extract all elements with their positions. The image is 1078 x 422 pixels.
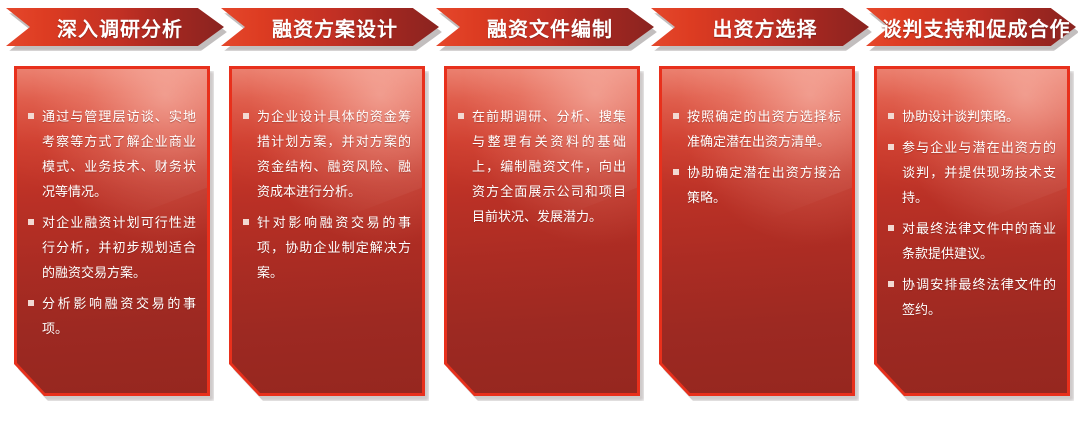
card-bullet-list-5: 协助设计谈判策略。 参与企业与潜在出资方的谈判，并提供现场技术支持。 对最终法律…	[874, 66, 1070, 396]
list-item: 协助设计谈判策略。	[888, 104, 1056, 129]
card-bullet-list-4: 按照确定的出资方选择标准确定潜在出资方清单。 协助确定潜在出资方接洽策略。	[659, 66, 855, 396]
list-item: 分析影响融资交易的事项。	[28, 291, 196, 341]
square-bullet-icon	[673, 113, 679, 119]
list-item: 按照确定的出资方选择标准确定潜在出资方清单。	[673, 104, 841, 154]
card-bullet-list-1: 通过与管理层访谈、实地考察等方式了解企业商业模式、业务技术、财务状况等情况。 对…	[14, 66, 210, 396]
bullet-text: 分析影响融资交易的事项。	[42, 291, 196, 341]
list-item: 对最终法律文件中的商业条款提供建议。	[888, 216, 1056, 266]
square-bullet-icon	[28, 219, 34, 225]
bullet-text: 协助设计谈判策略。	[902, 104, 1056, 129]
list-item: 通过与管理层访谈、实地考察等方式了解企业商业模式、业务技术、财务状况等情况。	[28, 104, 196, 204]
bullet-text: 参与企业与潜在出资方的谈判，并提供现场技术支持。	[902, 135, 1056, 210]
list-item: 在前期调研、分析、搜集与整理有关资料的基础上，编制融资文件，向出资方全面展示公司…	[458, 104, 626, 229]
bullet-text: 协调安排最终法律文件的签约。	[902, 272, 1056, 322]
bullet-text: 在前期调研、分析、搜集与整理有关资料的基础上，编制融资文件，向出资方全面展示公司…	[472, 104, 626, 229]
bullet-text: 按照确定的出资方选择标准确定潜在出资方清单。	[687, 104, 841, 154]
square-bullet-icon	[673, 169, 679, 175]
list-item: 协调安排最终法律文件的签约。	[888, 272, 1056, 322]
list-item: 对企业融资计划可行性进行分析，并初步规划适合的融资交易方案。	[28, 210, 196, 285]
square-bullet-icon	[28, 300, 34, 306]
bullet-text: 对企业融资计划可行性进行分析，并初步规划适合的融资交易方案。	[42, 210, 196, 285]
bullet-text: 对最终法律文件中的商业条款提供建议。	[902, 216, 1056, 266]
square-bullet-icon	[243, 219, 249, 225]
step-card-5[interactable]: 协助设计谈判策略。 参与企业与潜在出资方的谈判，并提供现场技术支持。 对最终法律…	[874, 66, 1070, 396]
list-item: 协助确定潜在出资方接洽策略。	[673, 160, 841, 210]
square-bullet-icon	[243, 113, 249, 119]
bullet-text: 协助确定潜在出资方接洽策略。	[687, 160, 841, 210]
step-card-3[interactable]: 在前期调研、分析、搜集与整理有关资料的基础上，编制融资文件，向出资方全面展示公司…	[444, 66, 640, 396]
list-item: 为企业设计具体的资金筹措计划方案，并对方案的资金结构、融资风险、融资成本进行分析…	[243, 104, 411, 204]
square-bullet-icon	[28, 113, 34, 119]
bullet-text: 针对影响融资交易的事项，协助企业制定解决方案。	[257, 210, 411, 285]
square-bullet-icon	[458, 113, 464, 119]
list-item: 参与企业与潜在出资方的谈判，并提供现场技术支持。	[888, 135, 1056, 210]
card-row: 通过与管理层访谈、实地考察等方式了解企业商业模式、业务技术、财务状况等情况。 对…	[0, 0, 1078, 422]
list-item: 针对影响融资交易的事项，协助企业制定解决方案。	[243, 210, 411, 285]
square-bullet-icon	[888, 225, 894, 231]
card-bullet-list-2: 为企业设计具体的资金筹措计划方案，并对方案的资金结构、融资风险、融资成本进行分析…	[229, 66, 425, 396]
bullet-text: 为企业设计具体的资金筹措计划方案，并对方案的资金结构、融资风险、融资成本进行分析…	[257, 104, 411, 204]
square-bullet-icon	[888, 113, 894, 119]
step-card-4[interactable]: 按照确定的出资方选择标准确定潜在出资方清单。 协助确定潜在出资方接洽策略。	[659, 66, 855, 396]
square-bullet-icon	[888, 144, 894, 150]
card-bullet-list-3: 在前期调研、分析、搜集与整理有关资料的基础上，编制融资文件，向出资方全面展示公司…	[444, 66, 640, 396]
process-diagram: 深入调研分析 融资方案设计 融资文件编制 出资方选择 谈判支持和促成合作	[0, 0, 1078, 422]
step-card-1[interactable]: 通过与管理层访谈、实地考察等方式了解企业商业模式、业务技术、财务状况等情况。 对…	[14, 66, 210, 396]
square-bullet-icon	[888, 281, 894, 287]
step-card-2[interactable]: 为企业设计具体的资金筹措计划方案，并对方案的资金结构、融资风险、融资成本进行分析…	[229, 66, 425, 396]
bullet-text: 通过与管理层访谈、实地考察等方式了解企业商业模式、业务技术、财务状况等情况。	[42, 104, 196, 204]
